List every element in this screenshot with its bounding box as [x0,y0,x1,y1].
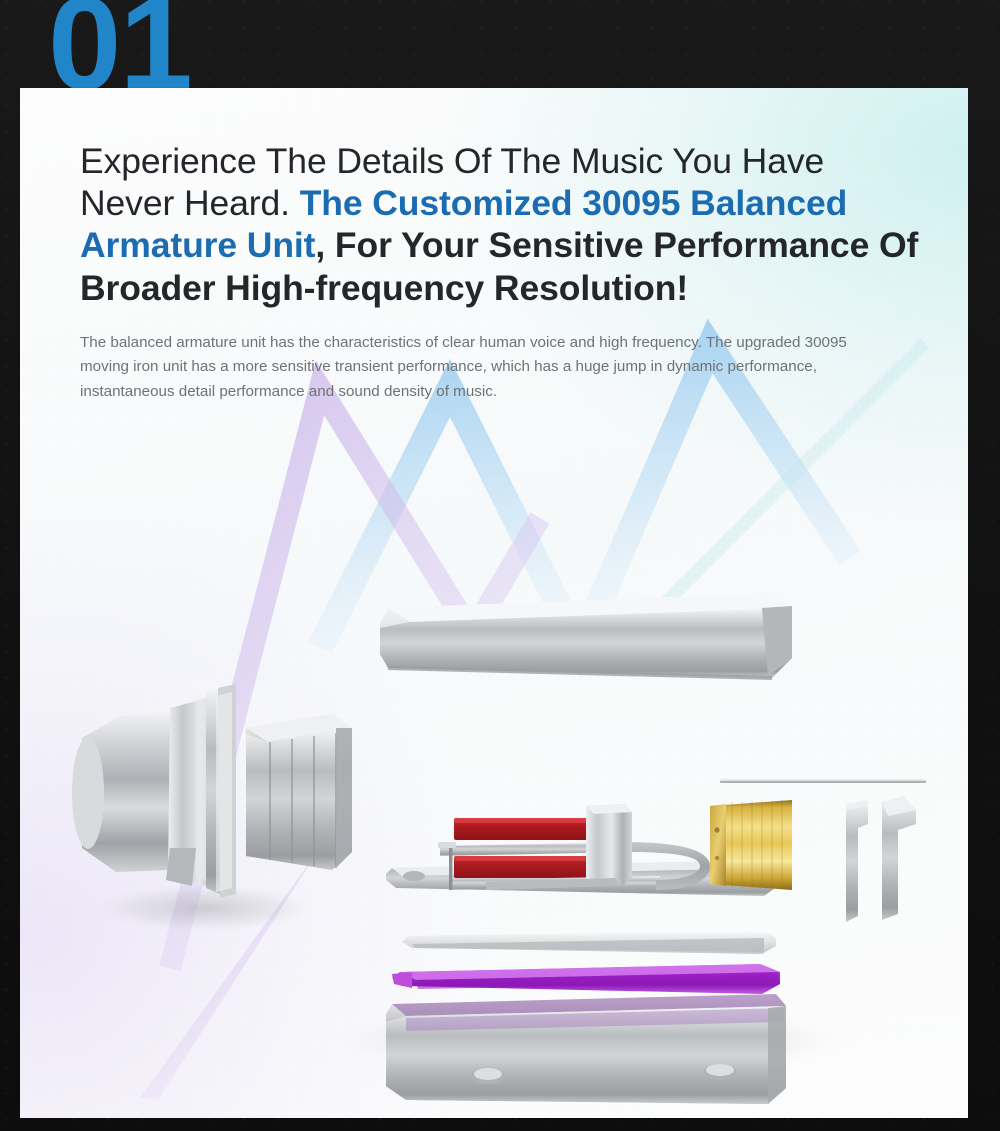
body-paragraph: The balanced armature unit has the chara… [80,331,875,404]
headline-line-1: Experience The Details Of The Music You … [80,141,824,181]
feature-slide: 01 [0,0,1000,1131]
content-card: Experience The Details Of The Music You … [20,88,968,1118]
headline-tail-1: , For Your Sensitive Performance Of [315,225,918,265]
text-block: Experience The Details Of The Music You … [80,140,920,404]
page-title: Experience The Details Of The Music You … [80,140,920,309]
headline-tail-2: Broader High-frequency Resolution! [80,268,688,308]
headline-line-2: Never Heard. [80,183,290,223]
